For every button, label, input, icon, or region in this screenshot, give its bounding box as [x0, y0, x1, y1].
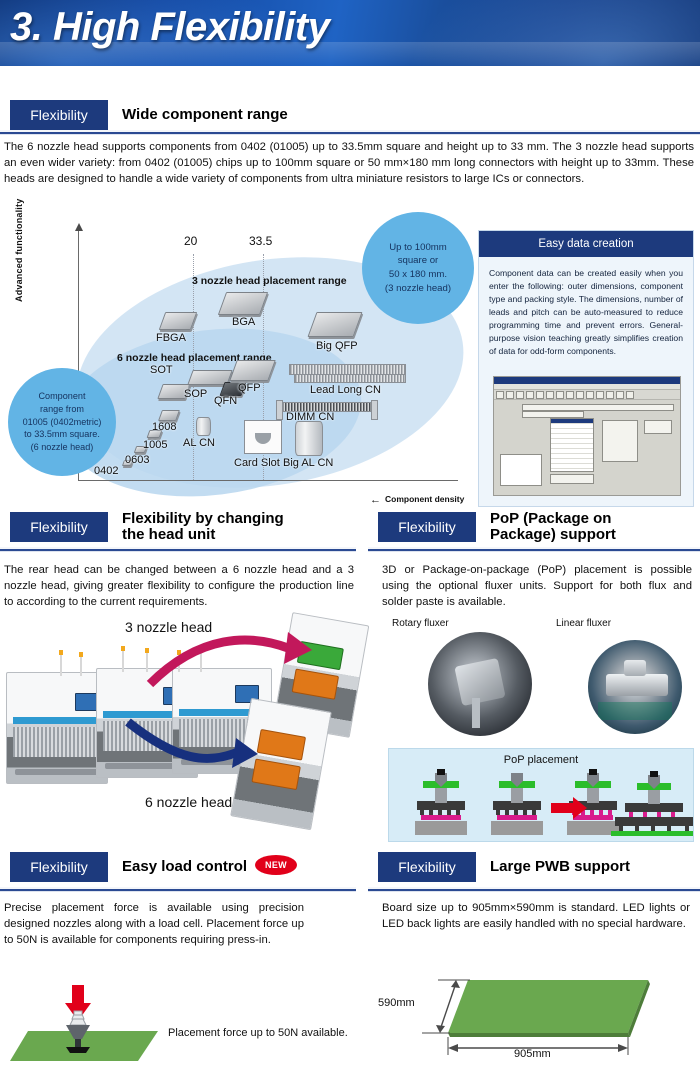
pop-panel-title: PoP placement — [389, 749, 693, 766]
section-body-pop: 3D or Package-on-package (PoP) placement… — [382, 562, 692, 610]
section-header-head-unit: Flexibility Flexibility by changing the … — [10, 512, 355, 542]
section-body-large-pwb: Board size up to 905mm×590mm is standard… — [382, 900, 690, 932]
left-arrow-icon: ← — [370, 494, 381, 506]
pop-placement-panel: PoP placement — [388, 748, 694, 842]
chart-x-axis — [78, 480, 458, 481]
chart-x-axis-label: ←Component density — [370, 494, 464, 506]
section-body-easy-load-control: Precise placement force is available usi… — [4, 900, 304, 948]
section-title: Wide component range — [110, 100, 288, 130]
flexibility-badge: Flexibility — [10, 512, 110, 542]
label-3-nozzle-head: 3 nozzle head — [125, 619, 212, 635]
flexibility-badge: Flexibility — [10, 852, 110, 882]
section-rule — [368, 547, 700, 552]
section-header-large-pwb: Flexibility Large PWB support — [378, 852, 690, 882]
label-linear-fluxer: Linear fluxer — [556, 618, 611, 629]
section-header-easy-load-control: Flexibility Easy load control — [10, 852, 355, 882]
new-badge: NEW — [255, 855, 297, 875]
section-header-pop: Flexibility PoP (Package on Package) sup… — [378, 512, 690, 542]
dim-label-width: 905mm — [514, 1048, 551, 1060]
pwb-size-illustration: 590mm 905mm — [378, 955, 698, 1065]
column-divider — [362, 512, 364, 860]
machine-1 — [6, 672, 108, 784]
chart-tick-label-33-5: 33.5 — [249, 234, 272, 248]
page-title: 3. High Flexibility — [10, 5, 329, 50]
machine-photo-group: 3 nozzle head 6 nozzle head — [0, 612, 360, 842]
dim-label-height: 590mm — [378, 997, 415, 1009]
section-rule — [0, 547, 356, 552]
section-body-wide-component-range: The 6 nozzle head supports components fr… — [4, 139, 694, 187]
page-banner: 3. High Flexibility — [0, 0, 700, 66]
section-title: Easy load control — [110, 852, 247, 882]
label-rotary-fluxer: Rotary fluxer — [392, 618, 449, 629]
rotary-fluxer-photo — [428, 632, 532, 736]
software-screenshot — [493, 376, 681, 496]
card-body: Component data can be created easily whe… — [479, 257, 693, 358]
chart-tick-label-20: 20 — [184, 234, 197, 248]
section-rule — [0, 887, 356, 892]
flexibility-badge: Flexibility — [10, 100, 110, 130]
callout-6-nozzle-head: Component range from 01005 (0402metric) … — [8, 368, 116, 476]
pop-placement-diagram — [389, 769, 693, 839]
section-header-wide-component-range: Flexibility Wide component range — [10, 100, 690, 130]
flexibility-badge: Flexibility — [378, 852, 478, 882]
component-range-chart: Advanced functionality ←Component densit… — [0, 212, 470, 508]
section-rule — [0, 130, 700, 135]
section-rule — [368, 887, 700, 892]
flexibility-badge: Flexibility — [378, 512, 478, 542]
easy-data-creation-card: Easy data creation Component data can be… — [478, 230, 694, 507]
label-6-nozzle-head: 6 nozzle head — [145, 794, 232, 810]
section-title: Flexibility by changing the head unit — [110, 512, 284, 542]
section-title: Large PWB support — [478, 852, 630, 882]
chart-y-axis-label: Advanced functionality — [14, 199, 24, 302]
section-title: PoP (Package on Package) support — [478, 512, 616, 542]
section-body-head-unit: The rear head can be changed between a 6… — [4, 562, 354, 610]
callout-3-nozzle-head: Up to 100mm square or 50 x 180 mm. (3 no… — [362, 212, 474, 324]
pwb-nozzle-diagram — [10, 985, 210, 1065]
card-title: Easy data creation — [479, 231, 693, 257]
load-control-illustration: Placement force up to 50N available. — [10, 985, 350, 1065]
load-control-caption: Placement force up to 50N available. — [168, 1027, 348, 1039]
linear-fluxer-photo — [588, 640, 682, 734]
range-label-3-nozzle: 3 nozzle head placement range — [192, 275, 347, 287]
